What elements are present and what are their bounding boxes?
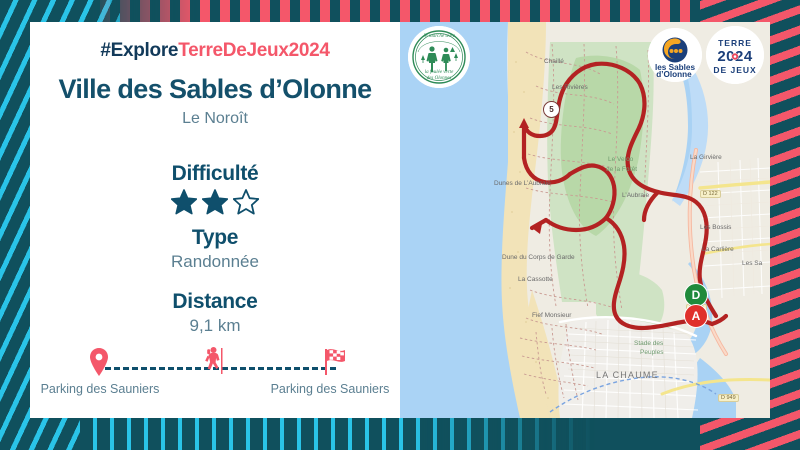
foulee-bottom-text-2: des Olonnes	[427, 76, 452, 81]
difficulty-label: Difficulté	[30, 162, 400, 186]
map-label: Les Sa	[742, 260, 762, 267]
poster-card: #ExploreTerreDeJeux2024 Ville des Sables…	[30, 22, 770, 418]
map-road-shield: D 949	[718, 394, 739, 402]
map-label: de la Forêt	[606, 166, 637, 173]
map-label: LA CHAUME	[596, 370, 659, 380]
poster-root: #ExploreTerreDeJeux2024 Ville des Sables…	[0, 0, 800, 450]
hashtag-suffix: TerreDeJeux2024	[178, 40, 329, 61]
map-label: Dune du Corps de Garde	[502, 254, 575, 261]
map-pin-icon	[82, 344, 116, 376]
hashtag-prefix: #Explore	[100, 40, 178, 61]
metric-difficulty: Difficulté	[30, 162, 400, 215]
info-panel: #ExploreTerreDeJeux2024 Ville des Sables…	[30, 22, 400, 418]
star-empty-icon	[233, 189, 259, 215]
difficulty-stars	[30, 189, 400, 215]
map-label: Les Bossis	[700, 224, 731, 231]
route-end-label: Parking des Sauniers	[270, 382, 390, 418]
map-label: Stade des	[634, 340, 663, 347]
map-marker-waypoint-5[interactable]: 5	[543, 101, 560, 118]
campaign-hashtag: #ExploreTerreDeJeux2024	[30, 40, 400, 62]
star-filled-icon	[171, 189, 197, 215]
map-label: Fief Monsieur	[532, 312, 571, 319]
terre-line1: TERRE	[718, 38, 752, 48]
page-title: Ville des Sables d’Olonne	[30, 74, 400, 105]
checkered-flag-icon	[320, 344, 354, 376]
foulee-verte-logo[interactable]: Je marche avec la foulée verte des Olonn…	[408, 26, 470, 88]
metric-distance: Distance 9,1 km	[30, 290, 400, 336]
type-value: Randonnée	[30, 252, 400, 272]
depart-label: D	[692, 288, 701, 302]
terre-2024-mark: 2024	[717, 48, 753, 65]
sables-line2: d’Olonne	[656, 70, 692, 79]
map-label: La Cassotte	[518, 276, 553, 283]
map-panel[interactable]: ChailléLes RivièresLe Veloode la ForêtLa…	[400, 22, 770, 418]
star-filled-icon	[202, 189, 228, 215]
map-label: La Carlière	[702, 246, 734, 253]
map-label: Chaillé	[544, 58, 564, 65]
map-road-shield: D 122	[700, 190, 721, 198]
metric-type: Type Randonnée	[30, 226, 400, 272]
route-endpoint-labels: Parking des Sauniers Parking des Saunier…	[40, 382, 390, 418]
type-label: Type	[30, 226, 400, 250]
foulee-bottom-text-1: la foulée verte	[425, 70, 454, 75]
waypoint-5-label: 5	[549, 105, 553, 114]
map-label: Peuples	[640, 349, 664, 356]
map-marker-arrivee[interactable]: A	[684, 304, 708, 328]
decor-dashed-stripes-top	[90, 0, 700, 22]
route-strip	[54, 344, 376, 378]
terre-de-jeux-2024-logo[interactable]: TERRE 2024 DE JEUX	[706, 26, 764, 84]
distance-value: 9,1 km	[30, 316, 400, 336]
route-subtitle: Le Noroît	[30, 110, 400, 128]
map-label: Dunes de L’Aubraie	[494, 180, 551, 187]
terre-line3: DE JEUX	[713, 65, 756, 75]
map-label: L’Aubraie	[622, 192, 649, 199]
route-start-label: Parking des Sauniers	[40, 382, 160, 418]
map-label: Les Rivières	[552, 84, 588, 91]
arrivee-label: A	[692, 309, 701, 323]
distance-label: Distance	[30, 290, 400, 314]
foulee-top-text: Je marche avec	[423, 33, 456, 39]
les-sables-dolonne-logo[interactable]: les Sables d’Olonne	[648, 28, 702, 82]
map-label: La Girvière	[690, 154, 722, 161]
hiker-icon	[198, 344, 232, 376]
map-label: Le Veloo	[608, 156, 633, 163]
